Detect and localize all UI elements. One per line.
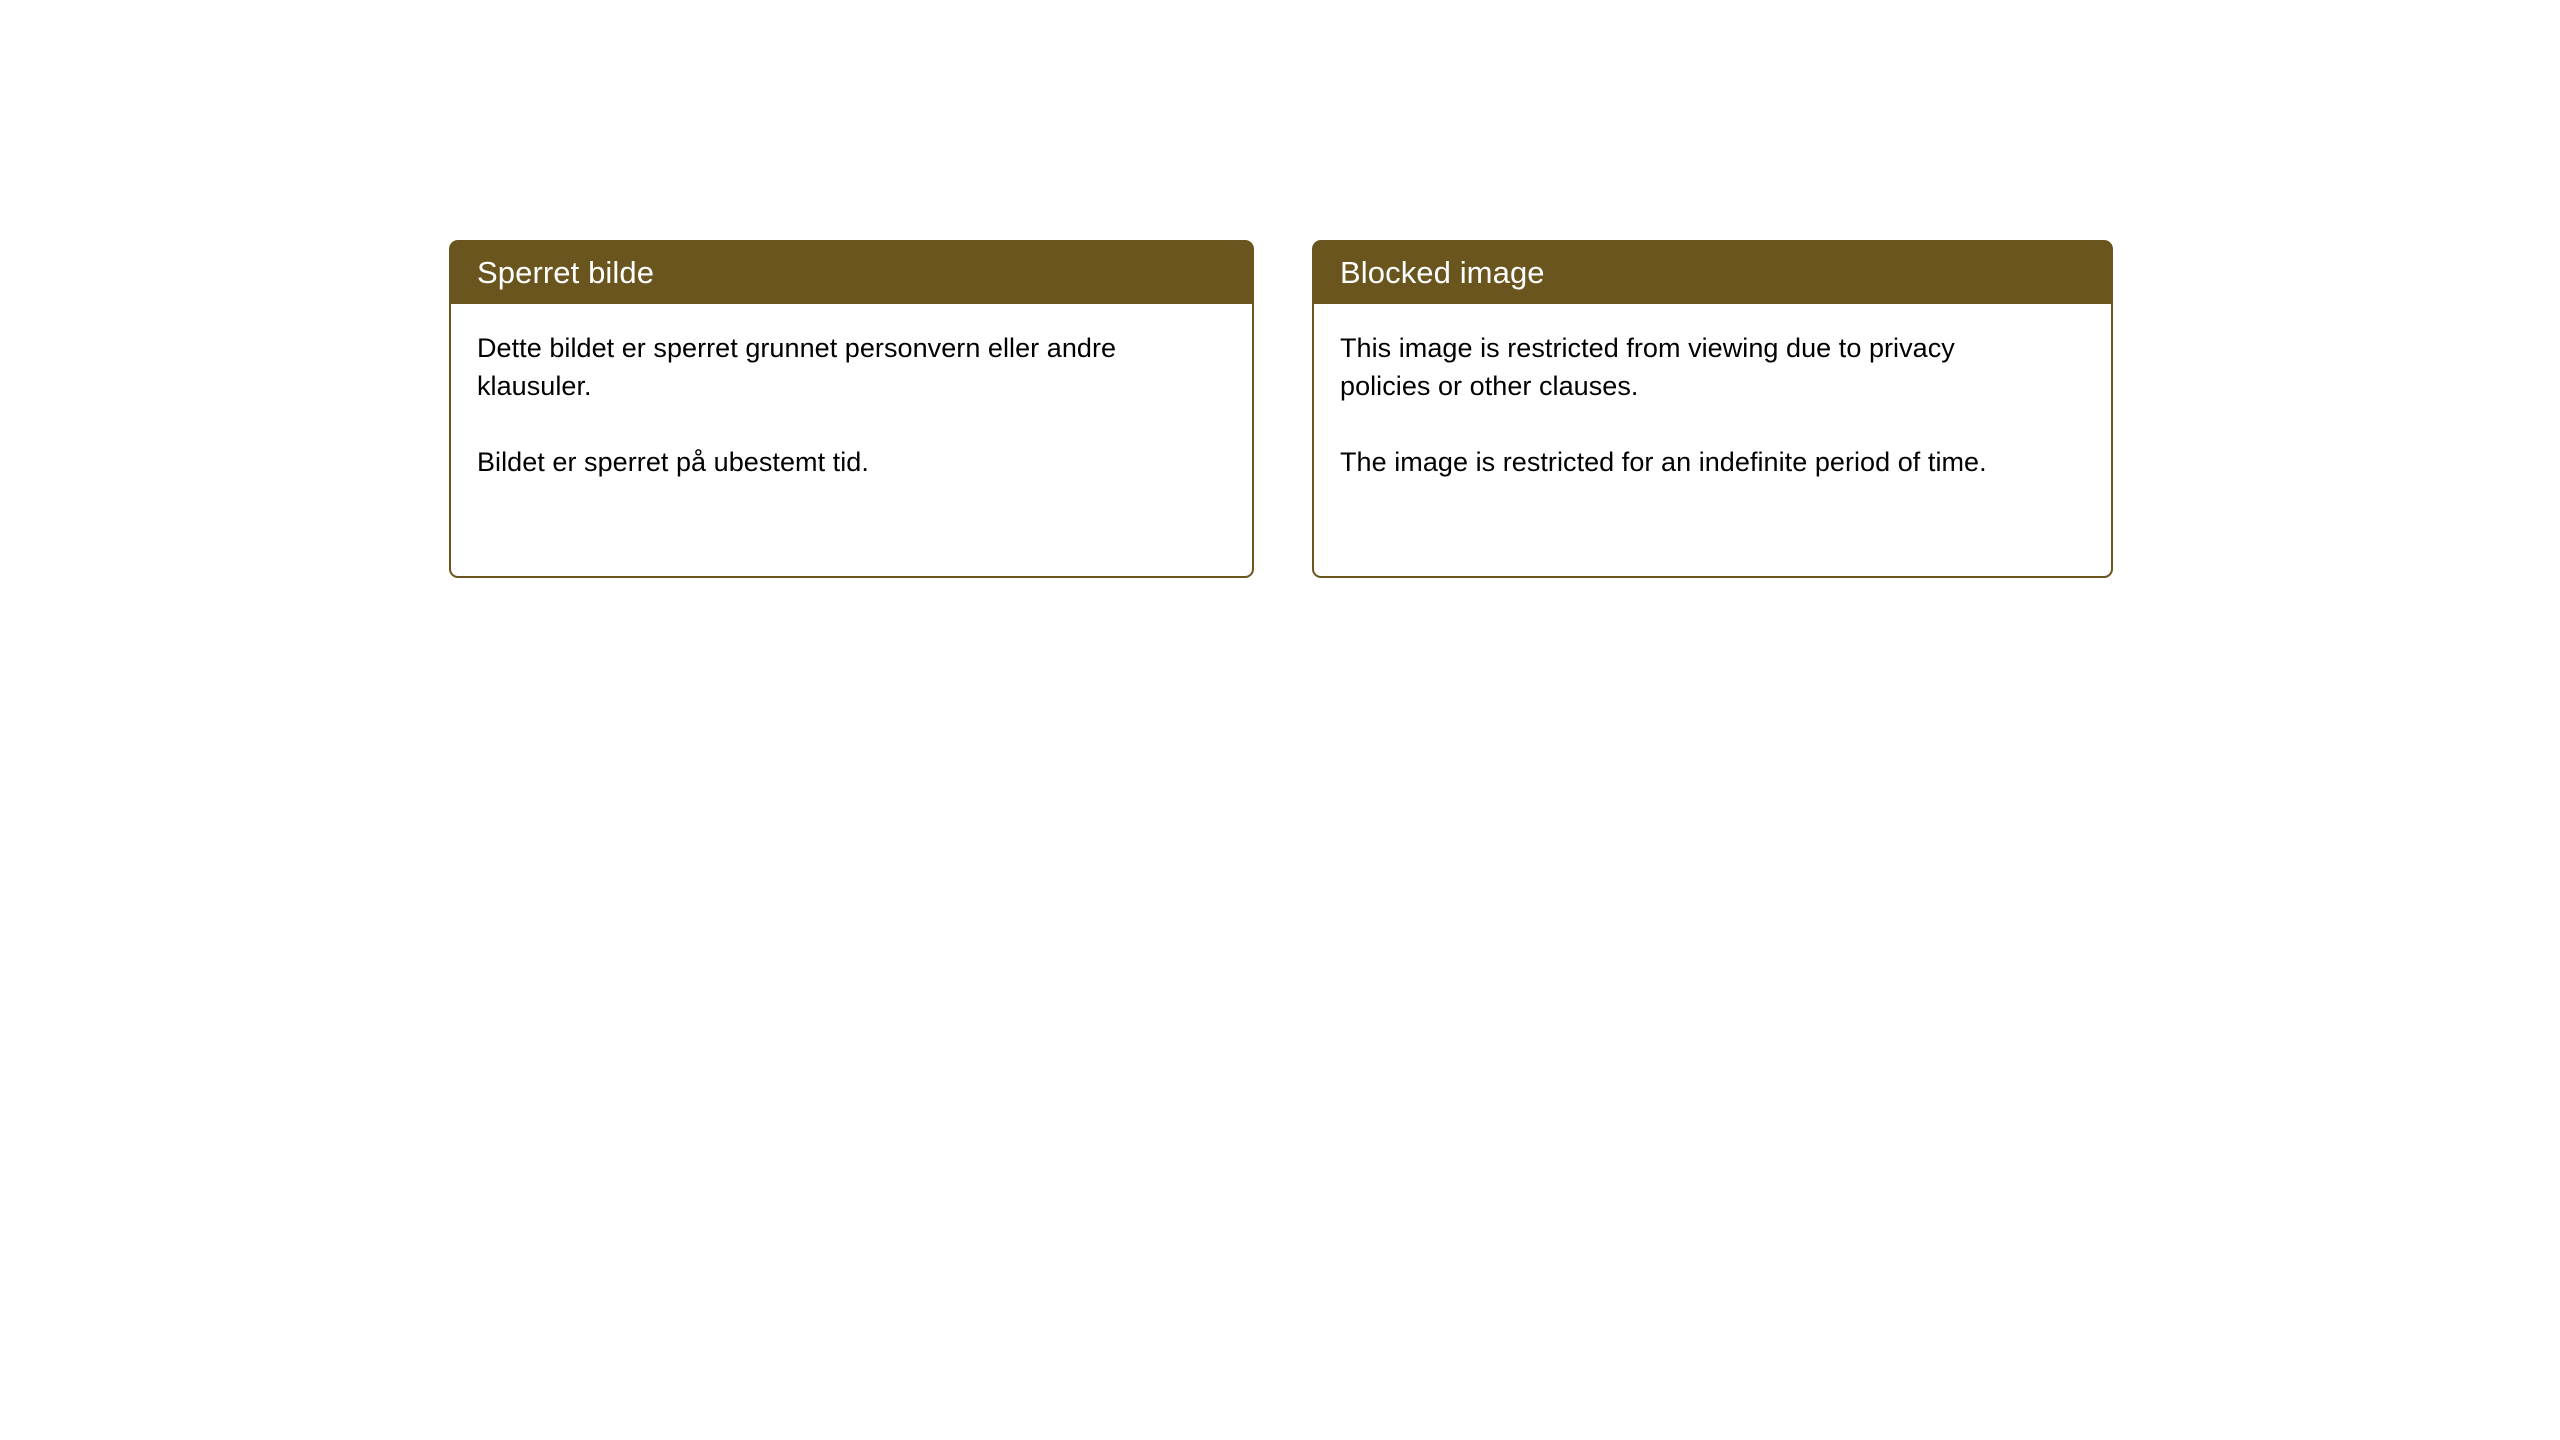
card-title-english: Blocked image xyxy=(1313,257,1545,288)
card-body-norwegian: Dette bildet er sperret grunnet personve… xyxy=(451,305,1252,576)
card-body-english: This image is restricted from viewing du… xyxy=(1314,305,2111,576)
blocked-image-card-norwegian: Sperret bilde Dette bildet er sperret gr… xyxy=(449,240,1254,578)
notice-panel-area: Sperret bilde Dette bildet er sperret gr… xyxy=(0,0,2560,1440)
card-header-norwegian: Sperret bilde xyxy=(450,241,1253,304)
card-paragraph-secondary-english: The image is restricted for an indefinit… xyxy=(1340,443,2040,481)
card-title-norwegian: Sperret bilde xyxy=(450,257,654,288)
card-paragraph-primary-english: This image is restricted from viewing du… xyxy=(1340,329,2040,405)
card-paragraph-primary-norwegian: Dette bildet er sperret grunnet personve… xyxy=(477,329,1177,405)
card-paragraph-secondary-norwegian: Bildet er sperret på ubestemt tid. xyxy=(477,443,1177,481)
blocked-image-card-english: Blocked image This image is restricted f… xyxy=(1312,240,2113,578)
card-header-english: Blocked image xyxy=(1313,241,2112,304)
